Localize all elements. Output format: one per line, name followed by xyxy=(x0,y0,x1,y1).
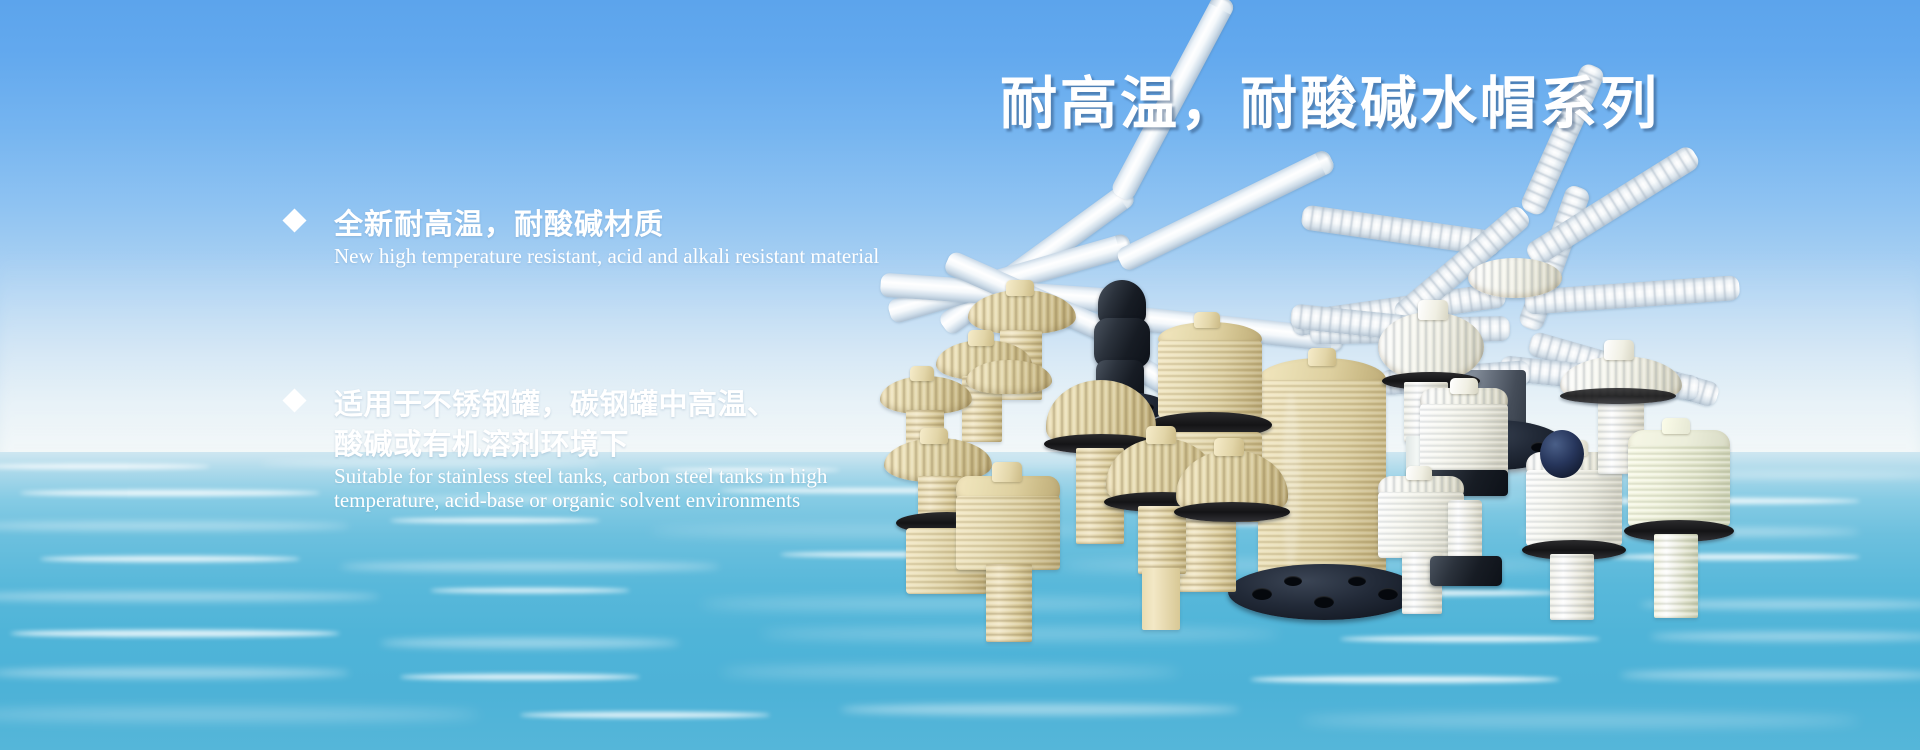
nozzle-knob xyxy=(1214,438,1244,456)
diamond-bullet-icon xyxy=(282,208,306,232)
pale-nozzle-body xyxy=(1628,446,1730,526)
nozzle-knob xyxy=(992,462,1022,482)
filter-column-base-flange xyxy=(1228,564,1420,620)
nozzle-knob xyxy=(1450,378,1478,394)
nozzle-stem-lower xyxy=(1142,568,1180,630)
feature-2-en-line-1: Suitable for stainless steel tanks, carb… xyxy=(334,463,827,489)
sealing-gasket xyxy=(1174,502,1290,522)
nozzle-knob xyxy=(1662,418,1690,434)
nozzle-knob xyxy=(920,428,948,444)
nozzle-knob xyxy=(1006,280,1034,296)
feature-2-en-line-2: temperature, acid-base or organic solven… xyxy=(334,487,827,513)
black-bracket xyxy=(1430,556,1502,586)
product-banner: 耐高温，耐酸碱水帽系列 全新耐高温，耐酸碱材质 New high tempera… xyxy=(0,0,1920,750)
filter-column-knob xyxy=(1308,348,1336,366)
feature-bullet-2: 适用于不锈钢罐，碳钢罐中高温、 酸碱或有机溶剂环境下 Suitable for … xyxy=(286,385,827,513)
nozzle-knob xyxy=(1146,426,1176,444)
nozzle-stem xyxy=(1654,534,1698,618)
nozzle-knob xyxy=(968,330,994,346)
nozzle-knob xyxy=(910,366,934,381)
feature-1-en-line-1: New high temperature resistant, acid and… xyxy=(334,243,879,269)
feature-1-cn-line-1: 全新耐高温，耐酸碱材质 xyxy=(334,205,879,245)
nozzle-cap xyxy=(966,360,1052,394)
nozzle-knob xyxy=(1604,340,1634,360)
nozzle-cap xyxy=(880,376,972,414)
page-title: 耐高温，耐酸碱水帽系列 xyxy=(1000,58,1660,140)
nozzle-stem xyxy=(1178,516,1236,592)
diamond-bullet-icon xyxy=(282,388,306,412)
nozzle-knob xyxy=(1418,300,1448,320)
distributor-cap xyxy=(1468,258,1562,298)
navy-sphere xyxy=(1540,430,1584,478)
nozzle-stem xyxy=(1550,554,1594,620)
sealing-gasket xyxy=(1560,388,1676,404)
feature-bullet-1: 全新耐高温，耐酸碱材质 New high temperature resista… xyxy=(286,205,879,269)
feature-2-cn-line-1: 适用于不锈钢罐，碳钢罐中高温、 xyxy=(334,385,827,425)
white-nozzle-body xyxy=(1526,470,1622,546)
nozzle-cylinder xyxy=(956,496,1060,570)
feature-2-cn-line-2: 酸碱或有机溶剂环境下 xyxy=(334,425,827,465)
white-nozzle-body xyxy=(1420,404,1508,476)
nozzle-knob xyxy=(1406,466,1432,480)
nozzle-upper-body xyxy=(1158,340,1262,418)
nozzle-stem xyxy=(986,564,1032,642)
nozzle-knob xyxy=(1194,312,1220,328)
